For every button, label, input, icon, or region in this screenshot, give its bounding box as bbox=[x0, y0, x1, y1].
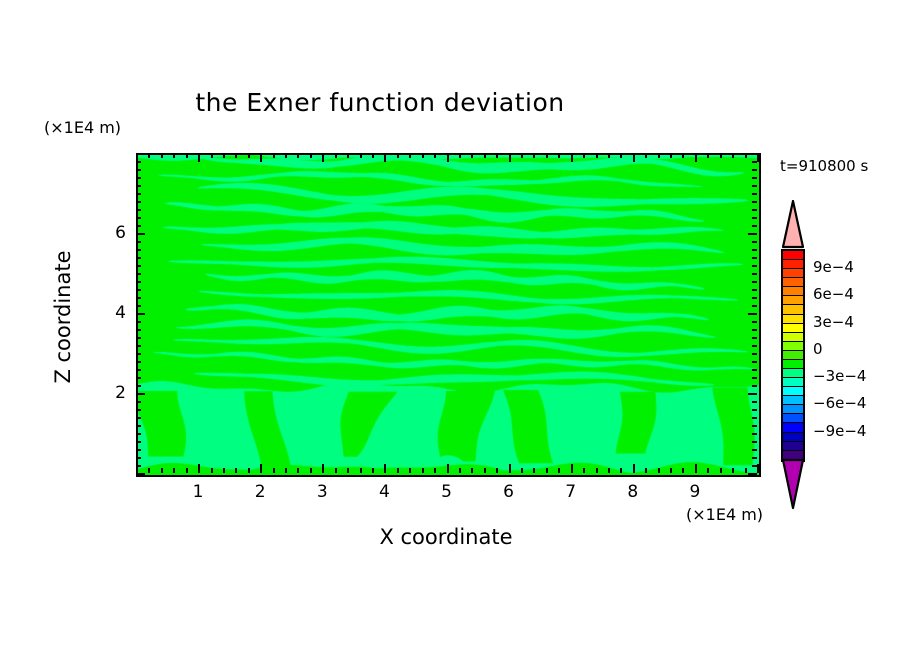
colorbar-band bbox=[783, 378, 803, 387]
colorbar-band bbox=[783, 351, 803, 360]
colorbar-band bbox=[783, 414, 803, 423]
y-axis-title: Z coordinate bbox=[51, 227, 75, 407]
colorbar-band bbox=[783, 405, 803, 414]
colorbar-band bbox=[783, 387, 803, 396]
x-tick-label: 1 bbox=[193, 482, 204, 502]
colorbar-band bbox=[783, 360, 803, 369]
colorbar-band bbox=[783, 278, 803, 287]
colorbar-band bbox=[783, 305, 803, 314]
colorbar-tick-label: −9e−4 bbox=[813, 422, 866, 440]
contour-plot-area bbox=[136, 153, 761, 477]
colorbar-band bbox=[783, 396, 803, 405]
colorbar-band bbox=[783, 333, 803, 342]
colorbar-band bbox=[783, 324, 803, 333]
colorbar-band bbox=[783, 442, 803, 451]
colorbar-band bbox=[783, 315, 803, 324]
colorbar-band bbox=[783, 269, 803, 278]
colorbar-band bbox=[783, 296, 803, 305]
x-tick-label: 5 bbox=[441, 482, 452, 502]
x-tick-label: 6 bbox=[503, 482, 514, 502]
x-tick-label: 9 bbox=[689, 482, 700, 502]
colorbar-tick-label: 6e−4 bbox=[813, 285, 854, 303]
colorbar-tick-label: 3e−4 bbox=[813, 313, 854, 331]
x-tick-label: 2 bbox=[255, 482, 266, 502]
x-tick-label: 7 bbox=[565, 482, 576, 502]
colorbar-bands bbox=[781, 249, 805, 462]
y-tick-label: 2 bbox=[88, 383, 126, 403]
y-tick-label: 4 bbox=[88, 303, 126, 323]
colorbar-band bbox=[783, 433, 803, 442]
colorbar-band bbox=[783, 260, 803, 269]
colorbar-band bbox=[783, 423, 803, 432]
colorbar-band bbox=[783, 287, 803, 296]
y-tick-label: 6 bbox=[88, 223, 126, 243]
y-axis-unit-label: (×1E4 m) bbox=[44, 118, 121, 137]
page-title: the Exner function deviation bbox=[0, 88, 760, 117]
contour-field bbox=[138, 155, 759, 475]
colorbar-cap-bottom-icon bbox=[781, 458, 805, 510]
colorbar-band bbox=[783, 369, 803, 378]
x-axis-unit-label: (×1E4 m) bbox=[686, 505, 763, 524]
colorbar-tick-label: 0 bbox=[813, 340, 823, 358]
x-tick-label: 8 bbox=[627, 482, 638, 502]
colorbar-tick-label: 9e−4 bbox=[813, 258, 854, 276]
timestamp-label: t=910800 s bbox=[780, 157, 868, 175]
colorbar-tick-label: −6e−4 bbox=[813, 394, 866, 412]
x-tick-label: 3 bbox=[317, 482, 328, 502]
colorbar: 9e−46e−43e−40−3e−4−6e−4−9e−4 bbox=[777, 200, 897, 510]
x-axis-title: X coordinate bbox=[246, 525, 646, 549]
x-tick-label: 4 bbox=[379, 482, 390, 502]
colorbar-cap-top-icon bbox=[781, 200, 805, 249]
colorbar-tick-label: −3e−4 bbox=[813, 367, 866, 385]
colorbar-band bbox=[783, 342, 803, 351]
colorbar-band bbox=[783, 251, 803, 260]
